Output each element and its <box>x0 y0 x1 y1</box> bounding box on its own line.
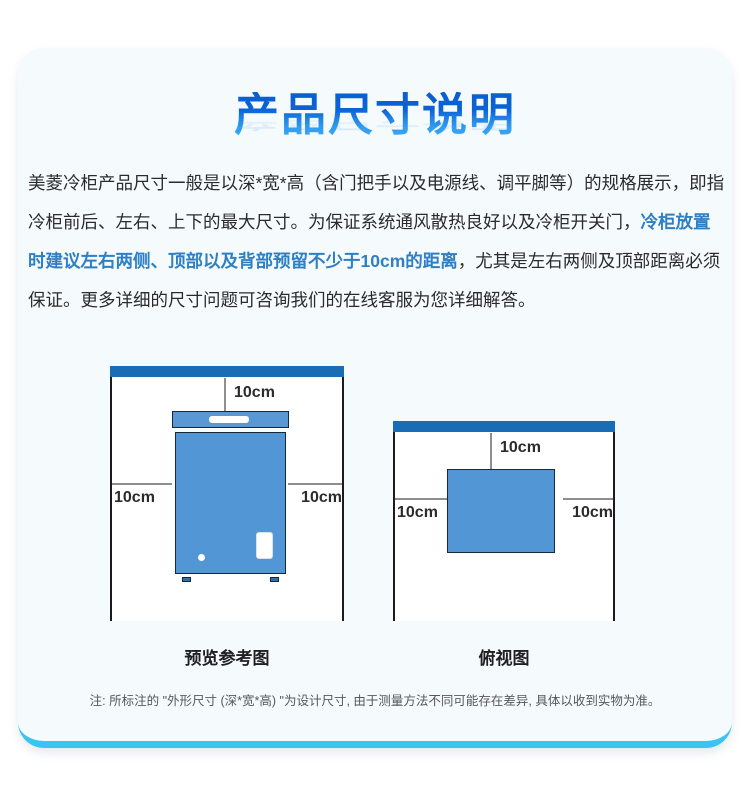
front-view-dim-line-right <box>288 483 342 485</box>
front-view-wall-left <box>110 377 112 621</box>
front-view-dim-label-right: 10cm <box>301 490 342 506</box>
top-view-dim-label-right: 10cm <box>572 505 613 521</box>
footnote: 注: 所标注的 "外形尺寸 (深*宽*高) "为设计尺寸, 由于测量方法不同可能… <box>18 693 732 711</box>
freezer-foot-left <box>182 577 191 582</box>
product-dimension-card: 产品尺寸说明 产品尺寸说明 美菱冷柜产品尺寸一般是以深*宽*高（含门把手以及电源… <box>18 48 732 748</box>
front-view-dim-line-top <box>224 378 226 411</box>
freezer-body <box>175 432 286 574</box>
front-view-diagram: 10cm 10cm 10cm <box>110 366 344 621</box>
top-view-wall-right <box>613 432 615 621</box>
top-view-dim-label-top: 10cm <box>500 440 541 456</box>
freezer-indicator-light <box>198 554 205 561</box>
chest-freezer-footprint <box>447 469 555 553</box>
top-view-wall-left <box>393 432 395 621</box>
top-view-dim-line-top <box>490 433 492 469</box>
diagram-area: 10cm 10cm 10cm <box>18 366 732 666</box>
description-part-1: 美菱冷柜产品尺寸一般是以深*宽*高（含门把手以及电源线、调平脚等）的规格展示，即… <box>28 173 724 232</box>
front-view-dim-label-left: 10cm <box>114 490 155 506</box>
front-view-caption: 预览参考图 <box>110 644 344 669</box>
front-view-dim-label-top: 10cm <box>234 385 275 401</box>
front-view-wall-right <box>342 377 344 621</box>
front-view-dim-line-left <box>112 483 172 485</box>
top-view-diagram: 10cm 10cm 10cm <box>393 421 615 621</box>
front-view-ceiling <box>110 366 344 377</box>
front-view-room: 10cm 10cm 10cm <box>110 366 344 621</box>
page-title-text: 产品尺寸说明 <box>234 92 516 137</box>
top-view-room: 10cm 10cm 10cm <box>393 421 615 621</box>
top-view-caption: 俯视图 <box>393 644 615 669</box>
top-view-back-wall <box>393 421 615 432</box>
top-view-dim-line-left <box>395 498 447 500</box>
freezer-control-panel <box>256 532 273 559</box>
top-view-dim-line-right <box>563 498 613 500</box>
top-view-dim-label-left: 10cm <box>397 505 438 521</box>
freezer-lid <box>172 411 289 428</box>
description-paragraph: 美菱冷柜产品尺寸一般是以深*宽*高（含门把手以及电源线、调平脚等）的规格展示，即… <box>28 164 726 320</box>
page-root: 产品尺寸说明 产品尺寸说明 美菱冷柜产品尺寸一般是以深*宽*高（含门把手以及电源… <box>0 0 750 786</box>
chest-freezer-front <box>172 411 289 578</box>
freezer-handle <box>209 416 249 423</box>
freezer-foot-right <box>270 577 279 582</box>
